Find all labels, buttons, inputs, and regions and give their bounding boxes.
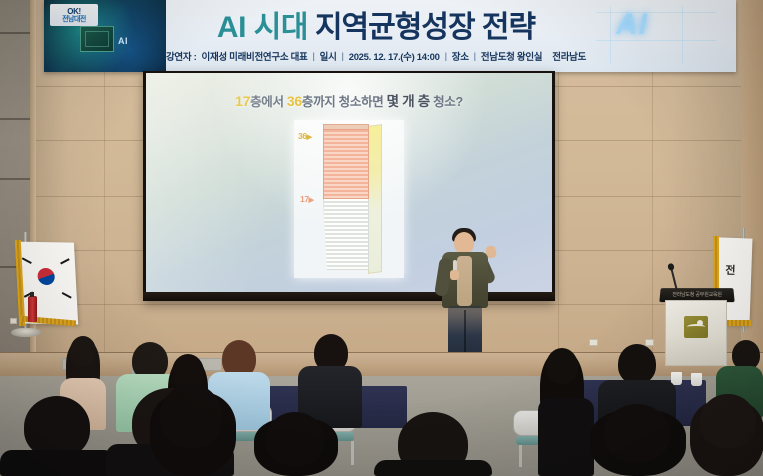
speaker-label: 강연자 : (166, 49, 197, 63)
logo-line-2: 전남대전 (62, 16, 86, 23)
slide-title-num-17: 17 (235, 93, 250, 109)
flag-base-left (11, 328, 41, 337)
slide-title-text-1: 층에서 (250, 95, 284, 109)
building-floors-plain (323, 199, 369, 270)
speaker-name: 이재성 미래비전연구소 대표 (202, 49, 308, 63)
banner-right-artwork: AI (586, 0, 736, 72)
banner-title-main: 지역균형성장 전략 (315, 2, 535, 46)
banner-ai-graphic-text: AI (616, 8, 648, 42)
slide-title-num-36: 36 (287, 93, 302, 109)
slide-title: 17층에서 36층까지 청소하면 몇 개 층 청소? (146, 90, 552, 110)
place-label: 장소 (452, 49, 469, 63)
banner-left-artwork: AI OK! 전남대전 (44, 0, 166, 72)
circuit-chip-icon (80, 26, 114, 52)
organizer-name: 전라남도 (552, 49, 586, 63)
date-value: 2025. 12. 17.(수) 14:00 (349, 49, 440, 63)
speaker-shirt (457, 256, 472, 306)
floor-label-17-arrow-icon: ▶ (309, 197, 314, 204)
subtitle-sep-3: | (445, 51, 447, 62)
wall-outlet-1 (589, 339, 598, 346)
subtitle-sep-2: | (342, 51, 344, 62)
banner-subtitle: 강연자 : 이재성 미래비전연구소 대표 | 일시 | 2025. 12. 17… (166, 46, 586, 66)
wall-outlet-2 (645, 339, 654, 346)
speaker-person (432, 226, 502, 366)
floor-label-36-arrow-icon: ▶ (307, 134, 312, 141)
korean-national-flag (16, 242, 78, 325)
paper-cup-3 (691, 373, 702, 386)
floor-label-17: 17▶ (300, 194, 314, 204)
taeguk-symbol-icon (37, 268, 55, 285)
floor-label-17-value: 17 (300, 194, 309, 204)
logo-line-1: OK! (67, 8, 80, 16)
speaker-head (454, 232, 474, 254)
podium-nameplate: 전라남도청 공무원교육원 (660, 291, 735, 298)
building-roof (323, 124, 369, 130)
event-banner: AI OK! 전남대전 AI AI 시대 지역균형성장 전략 강연자 : 이재성… (44, 0, 736, 72)
wall-outlet-3 (10, 318, 17, 324)
building-floors-highlighted (323, 129, 369, 199)
floor-label-36-value: 36 (298, 131, 307, 141)
subtitle-sep-4: | (474, 51, 476, 62)
jeonnam-flag-character: 전 (725, 262, 736, 278)
presentation-room-scene: AI OK! 전남대전 AI AI 시대 지역균형성장 전략 강연자 : 이재성… (0, 0, 763, 476)
subtitle-sep-1: | (312, 51, 314, 62)
place-value: 전남도청 왕인실 (481, 49, 542, 63)
slide-diagram-card: 36▶ 17▶ (294, 120, 404, 278)
podium-emblem-icon (684, 316, 708, 338)
building-side-face (368, 124, 382, 274)
fire-extinguisher (28, 296, 37, 322)
slide-title-emphasis: 몇 개 층 (387, 94, 430, 109)
floor-label-36: 36▶ (298, 131, 312, 141)
banner-ai-chip-label: AI (118, 36, 128, 46)
building-diagram (323, 129, 369, 270)
date-label: 일시 (320, 49, 337, 63)
banner-title: AI 시대 지역균형성장 전략 (166, 3, 586, 45)
slide-title-text-2: 층까지 청소하면 (302, 95, 384, 109)
ok-jeonnam-logo: OK! 전남대전 (50, 4, 98, 26)
speaker-left-hand (450, 270, 459, 280)
slide-title-text-3: 청소? (433, 95, 463, 109)
banner-title-ai: AI 시대 (217, 2, 308, 46)
